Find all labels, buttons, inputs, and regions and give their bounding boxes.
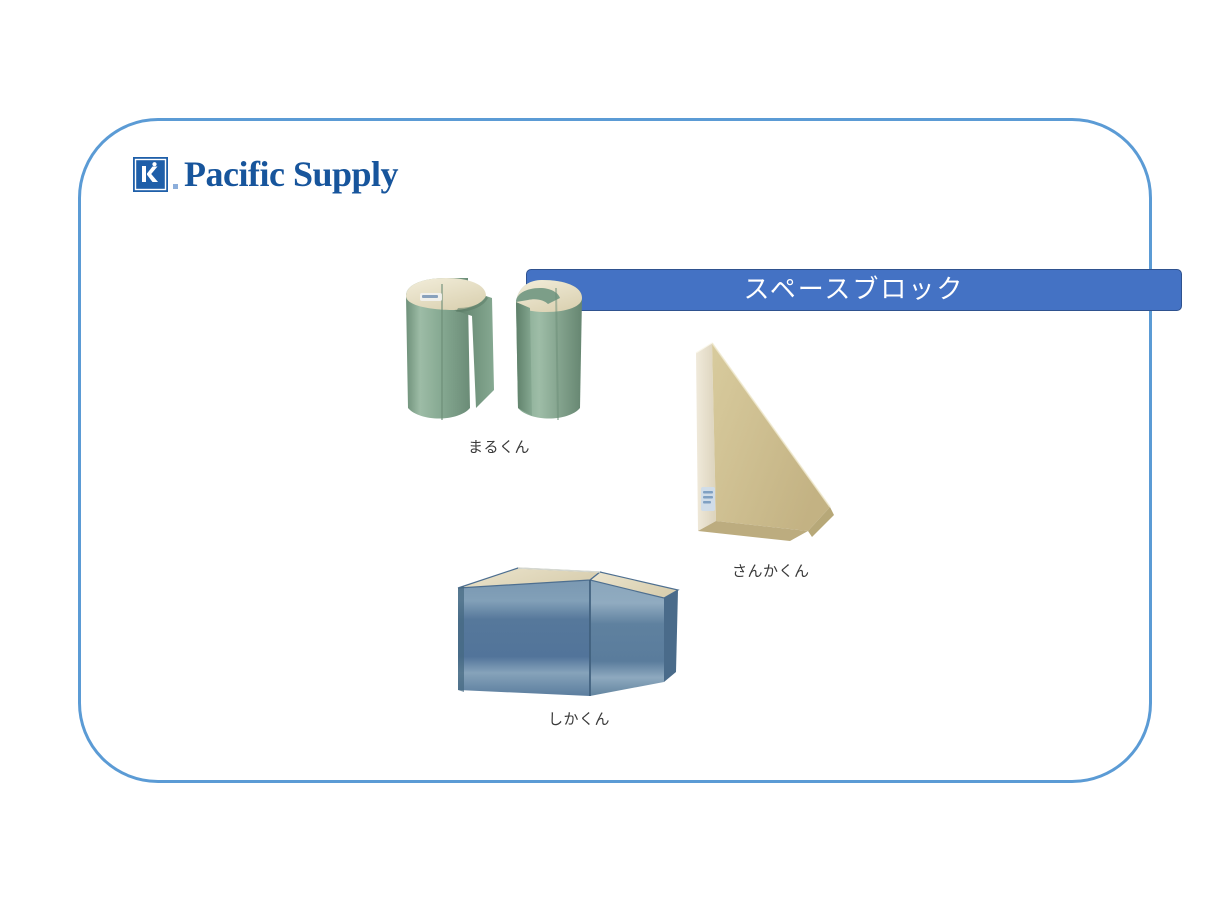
product-shikaku-photo bbox=[450, 550, 710, 710]
brand-name: Pacific Supply bbox=[184, 156, 398, 192]
brand-mark-dot-icon bbox=[173, 184, 178, 189]
product-sankaku-photo bbox=[678, 335, 858, 545]
product-shikaku: しかくん bbox=[450, 550, 710, 730]
product-sankaku-caption: さんかくん bbox=[732, 560, 810, 581]
slide-header: Pacific Supply スペースブロック bbox=[78, 118, 1152, 228]
slide-canvas: Pacific Supply スペースブロック bbox=[0, 0, 1229, 913]
brand-logo: Pacific Supply bbox=[133, 156, 398, 192]
page-title: スペースブロック bbox=[744, 277, 965, 303]
product-maru-caption: まるくん bbox=[468, 436, 530, 457]
pacific-supply-logo-mark-icon bbox=[133, 157, 168, 192]
product-maru-photo bbox=[398, 258, 628, 438]
product-maru: まるくん bbox=[398, 258, 628, 468]
product-shikaku-caption: しかくん bbox=[548, 708, 610, 729]
